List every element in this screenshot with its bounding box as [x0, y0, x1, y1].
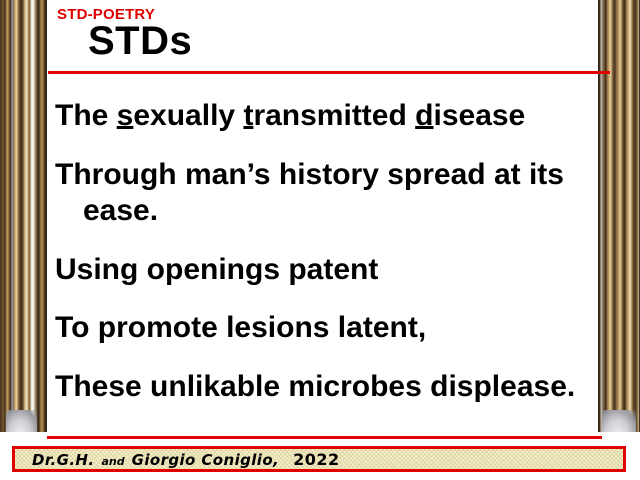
column-base [6, 410, 37, 432]
column-edge-shadow [44, 0, 47, 432]
header-divider-rule [48, 71, 610, 74]
wooden-column-right-image [598, 0, 640, 432]
credit-bar: Dr.G.H. and Giorgio Coniglio, 2022 [12, 446, 626, 472]
credit-conjunction: and [101, 455, 124, 468]
poem-line: Through man’s history spread at its ease… [55, 157, 600, 230]
credit-year: 2022 [286, 450, 340, 469]
column-base [602, 410, 636, 432]
wooden-column-left-image [0, 0, 47, 432]
footer-divider-rule [47, 436, 602, 439]
credit-author-full: Giorgio Coniglio, [132, 451, 280, 469]
poem-line: To promote lesions latent, [55, 310, 600, 347]
credit-author-short: Dr.G.H. [32, 451, 94, 469]
column-wood-grain [0, 0, 47, 432]
poem-line: These unlikable microbes displease. [55, 369, 600, 406]
column-wood-grain [598, 0, 640, 432]
credit-text-group: Dr.G.H. and Giorgio Coniglio, 2022 [15, 450, 340, 469]
page-title: STDs [88, 21, 192, 61]
poem-body: The sexually transmitted disease Through… [55, 98, 600, 428]
poem-line: The sexually transmitted disease [55, 98, 600, 135]
slide-canvas: STD-POETRY STDs The sexually transmitted… [0, 0, 640, 480]
poem-line: Using openings patent [55, 252, 600, 289]
